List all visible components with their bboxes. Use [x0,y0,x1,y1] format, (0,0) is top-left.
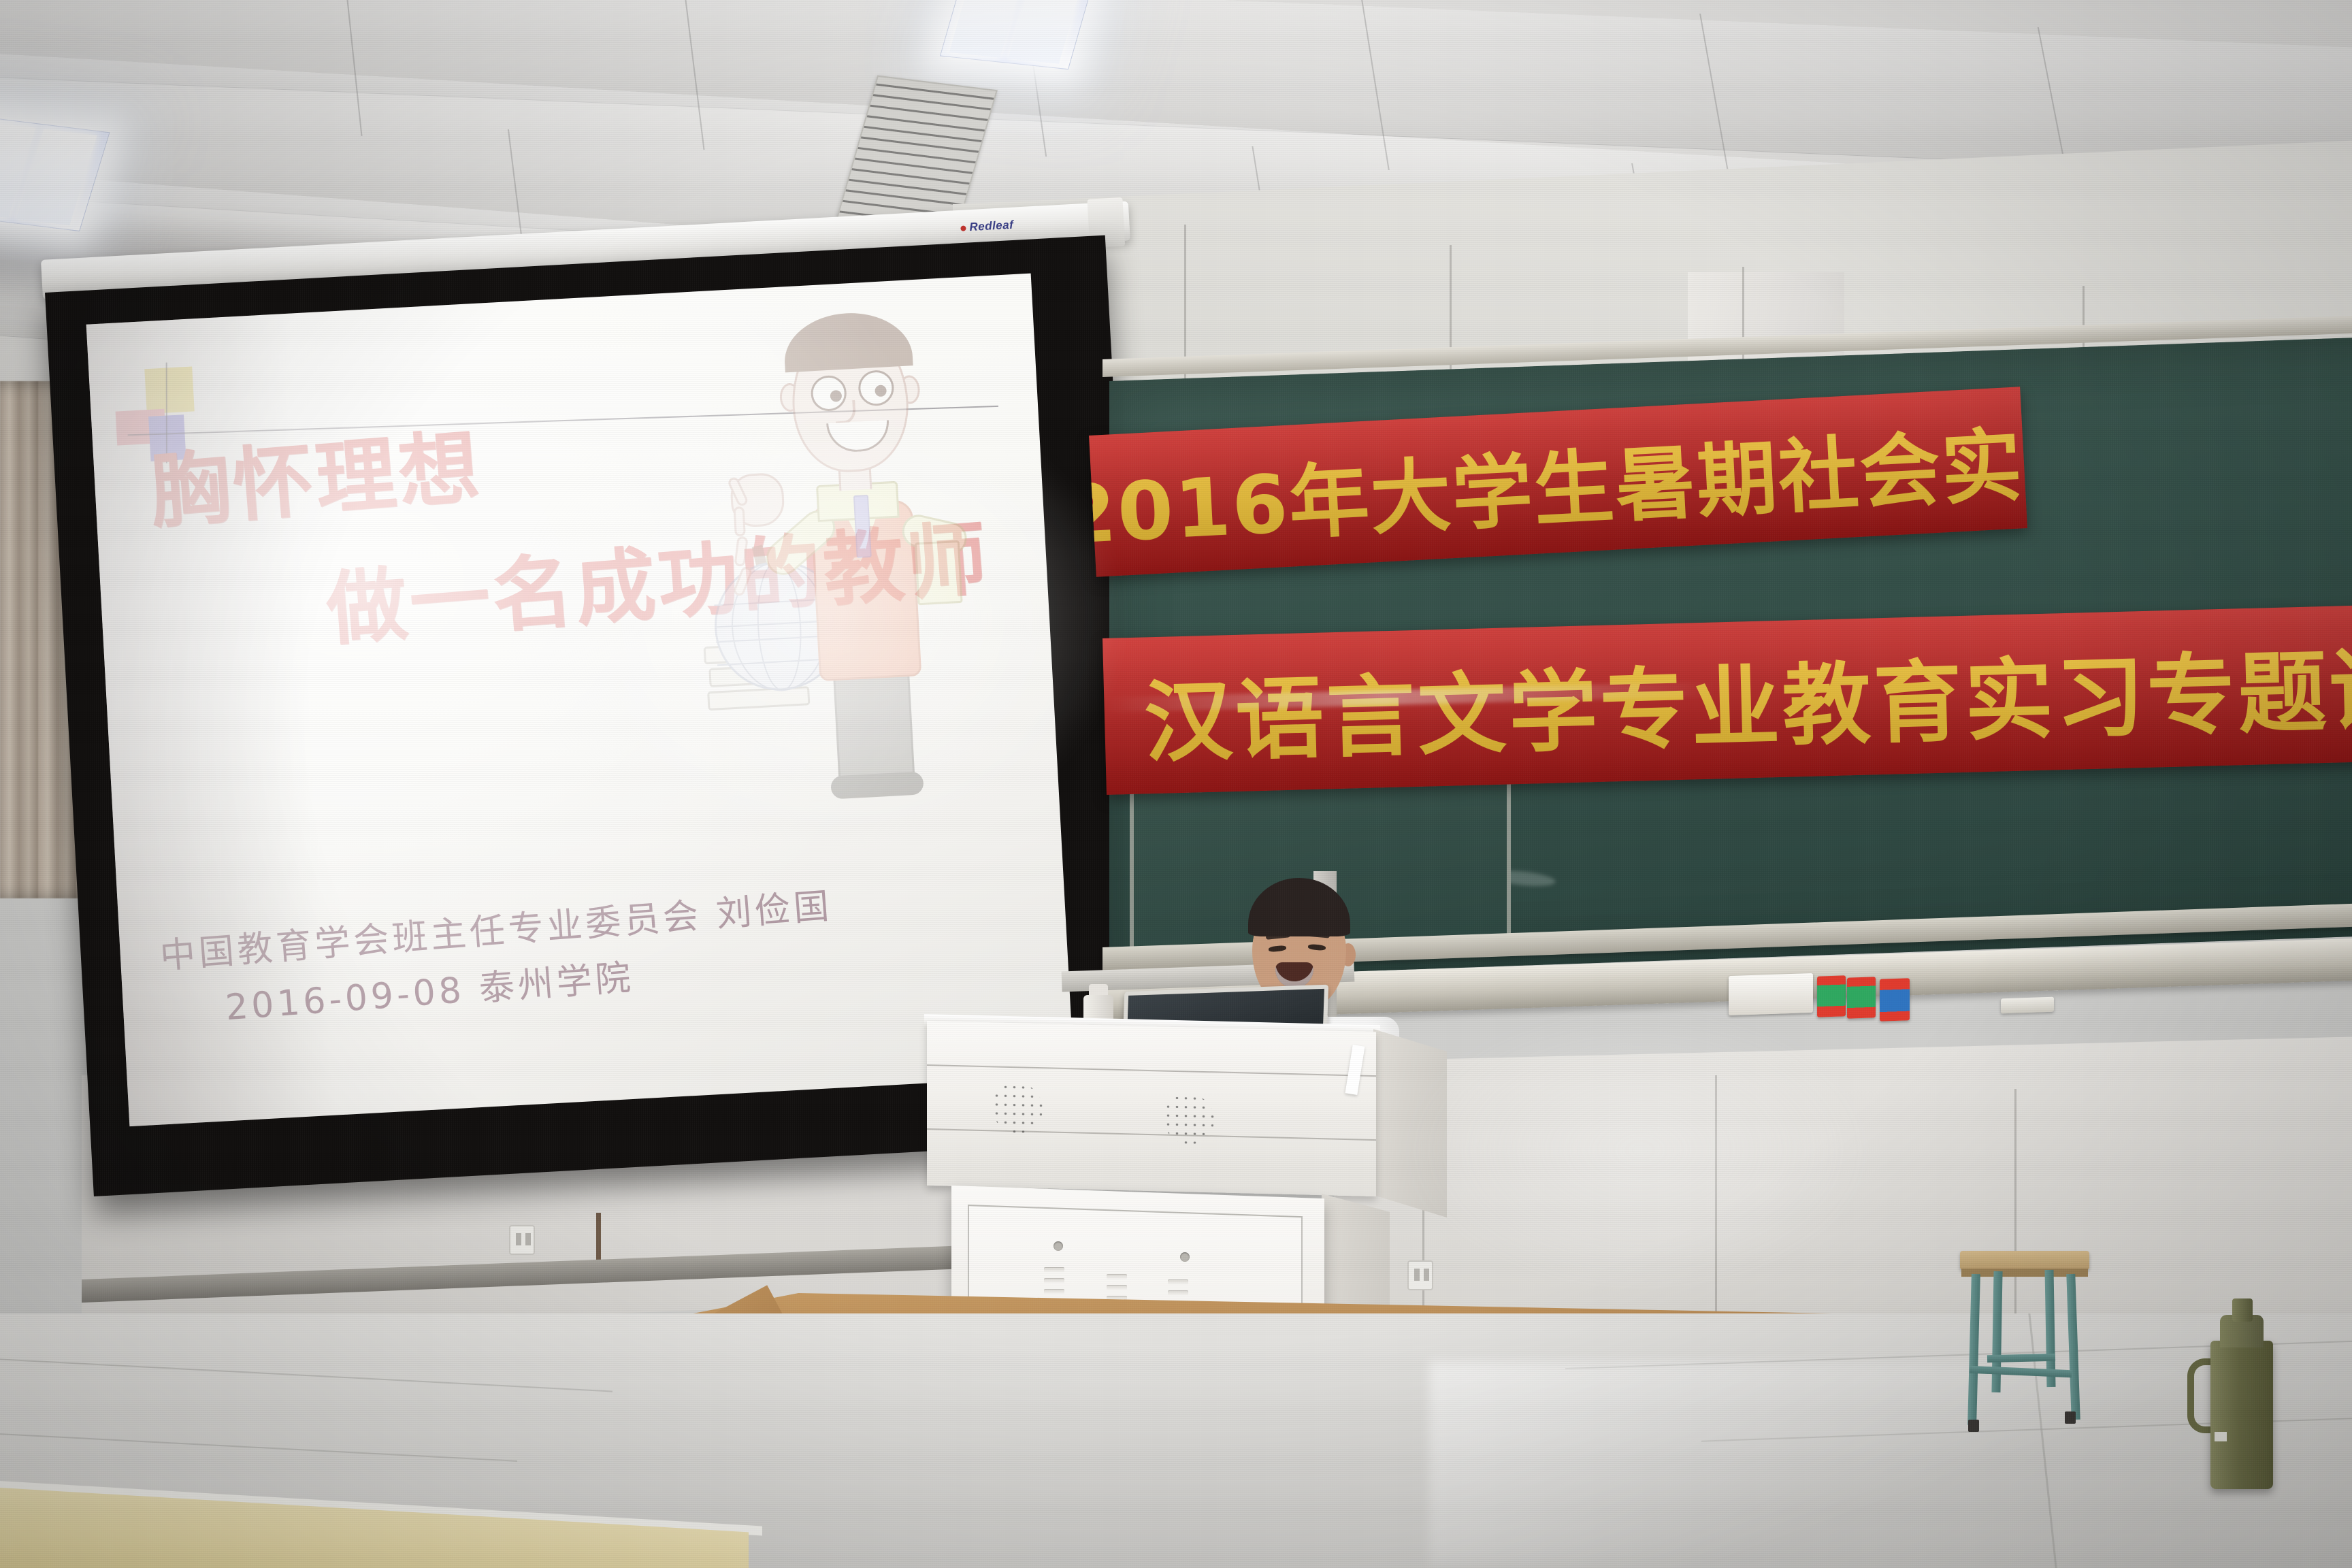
podium-lock[interactable] [1180,1252,1190,1262]
vacuum-flask[interactable] [2206,1298,2278,1489]
podium-speaker-grille [992,1082,1043,1134]
stool[interactable] [1960,1251,2096,1435]
blackboard-eraser[interactable] [2001,997,2054,1014]
projection-screen-surface: 胸怀理想 做一名成功的教师 中国教育学会班主任专业委员会 刘俭国 2016-09… [86,274,1075,1126]
banner-lecture: 汉语言文学专业教育实习专题讲座 [1102,605,2352,795]
podium-lock[interactable] [1053,1241,1063,1251]
chalk-box[interactable] [1847,977,1876,1018]
flask-cap [2232,1298,2253,1322]
screen-brand-logo: Redleaf [960,218,1014,235]
speaker-hair [1248,878,1350,936]
podium-top [927,1021,1376,1196]
podium-top-right-side [1373,1029,1447,1218]
stool-seat [1960,1251,2089,1270]
white-chalk-holder[interactable] [1729,973,1813,1015]
chalk-box[interactable] [1880,978,1910,1022]
cartoon-teacher-illustration [685,291,1003,783]
wall-power-socket[interactable] [509,1225,535,1255]
lecture-hall-photo: Redleaf 胸怀理想 做一名成功的教师 中国教育学会班主任专业委员会 刘俭国… [0,0,2352,1568]
chalk-box[interactable] [1817,975,1846,1017]
podium-speaker-grille [1164,1094,1214,1145]
flask-body [2210,1341,2273,1489]
wall-power-socket[interactable] [1407,1260,1433,1290]
waving-hand-icon [730,472,785,528]
